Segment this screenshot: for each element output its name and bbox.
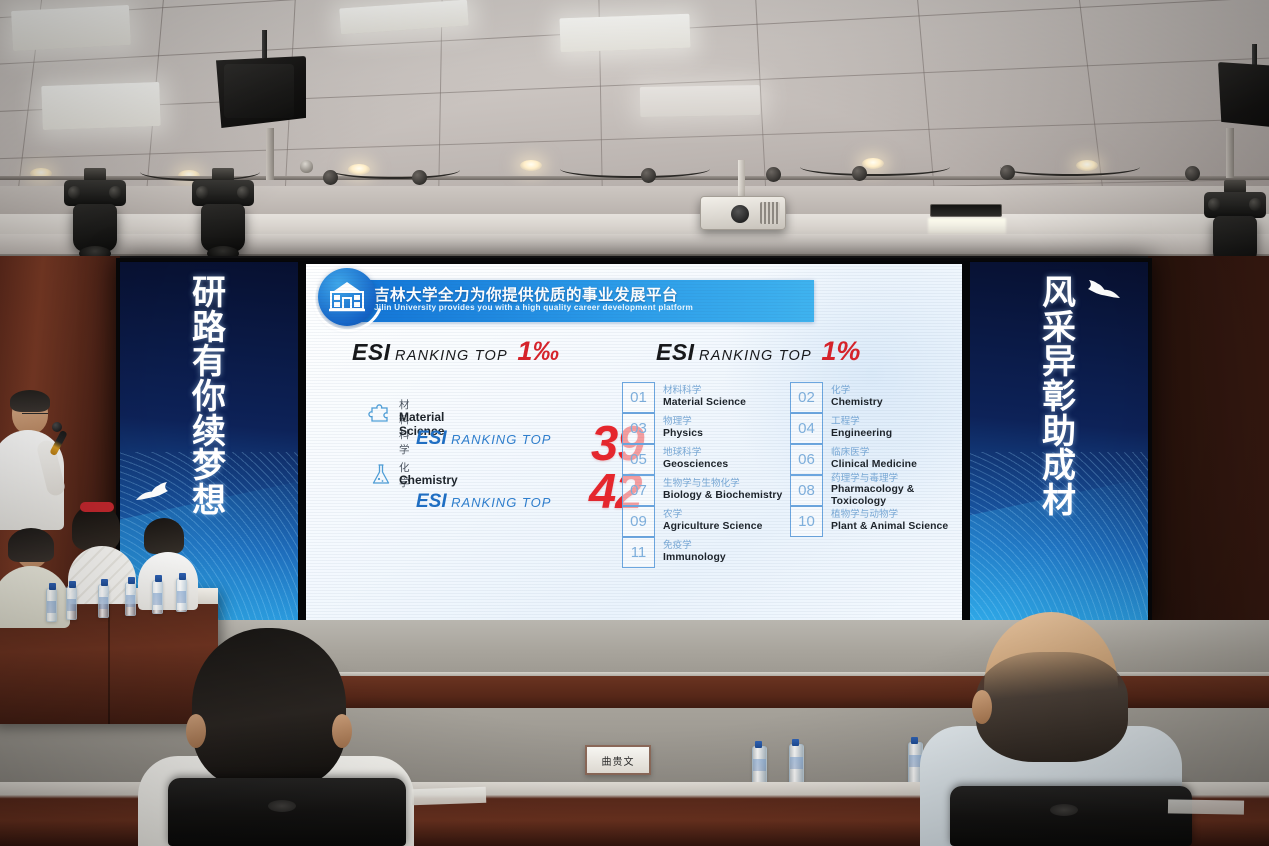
- ear: [186, 714, 206, 748]
- item-number: 10: [790, 506, 823, 537]
- ear: [332, 714, 352, 748]
- ceiling-cable: [330, 161, 460, 179]
- hair: [192, 628, 346, 788]
- item-number: 09: [622, 506, 655, 537]
- calli-char: 梦: [120, 449, 298, 484]
- ceiling-light-panel: [41, 82, 160, 130]
- item-cn: 免疫学: [663, 541, 726, 551]
- water-bottle: [176, 578, 187, 612]
- esi-label: ESI: [416, 428, 447, 449]
- item-cn: 农学: [663, 510, 763, 520]
- esi-label: ESI: [352, 339, 391, 365]
- discipline-rank-label: ESI RANKING TOP: [416, 428, 551, 450]
- ceiling-mount-puck: [852, 166, 867, 181]
- discipline-rank-label: ESI RANKING TOP: [416, 491, 551, 513]
- ear: [972, 690, 992, 724]
- ceiling-mount-puck: [412, 170, 427, 185]
- calli-char: 助: [970, 415, 1148, 450]
- calli-char: 彰: [970, 380, 1148, 415]
- esi-label: ESI: [656, 339, 695, 365]
- item-en: Physics: [663, 428, 703, 440]
- water-bottle: [46, 588, 57, 622]
- banner-right: 风 采 异 彰 助 成 材: [970, 262, 1148, 622]
- calli-char: 研: [120, 276, 298, 311]
- item-cn: 植物学与动物学: [831, 510, 948, 520]
- esi-ranking-label: RANKING TOP: [451, 495, 551, 510]
- item-cn: 化学: [831, 386, 883, 396]
- ceiling-mount-puck: [1185, 166, 1200, 181]
- ceiling-soffit-upper: [0, 186, 1269, 216]
- item-en: Material Science: [663, 397, 746, 409]
- projector-mount-pole: [738, 160, 745, 200]
- ceiling-cable: [800, 158, 950, 176]
- calli-char: 风: [970, 276, 1148, 311]
- water-bottle: [66, 586, 77, 620]
- list-item: 01 材料科学 Material Science: [622, 382, 784, 413]
- led-video-wall: 研 路 有 你 续 梦 想 风 采 异 彰 助 成 材: [116, 258, 1152, 626]
- esi-heading-percent: ESI RANKING TOP 1%: [656, 336, 860, 367]
- item-number: 05: [622, 444, 655, 475]
- item-number: 02: [790, 382, 823, 413]
- ceiling-light-panel: [559, 14, 690, 53]
- flask-icon: [368, 462, 394, 488]
- ceiling-cable: [560, 160, 710, 178]
- calli-char: 采: [970, 311, 1148, 346]
- item-number: 06: [790, 444, 823, 475]
- paper-document: [412, 787, 487, 806]
- list-item: 02 化学 Chemistry: [790, 382, 952, 413]
- ceiling-light-panel: [640, 85, 761, 117]
- slide-title-banner: 吉林大学全力为你提供优质的事业发展平台 Jilin University pro…: [354, 280, 814, 322]
- esi-value: 1%: [821, 336, 860, 366]
- discipline-grid-col-even: 02 化学 Chemistry 04 工程学 Engineering: [790, 382, 952, 537]
- list-item: 08 药理学与毒理学 Pharmacology & Toxicology: [790, 475, 952, 506]
- item-en: Engineering: [831, 428, 892, 440]
- item-en: Immunology: [663, 552, 726, 564]
- banner-left-calligraphy: 研 路 有 你 续 梦 想: [120, 276, 298, 519]
- item-cn: 工程学: [831, 417, 892, 427]
- list-item: 04 工程学 Engineering: [790, 413, 952, 444]
- nameplate-text: 曲贵文: [602, 753, 635, 768]
- item-cn: 物理学: [663, 417, 703, 427]
- item-number: 04: [790, 413, 823, 444]
- calli-char: 想: [120, 484, 298, 519]
- item-cn: 药理学与毒理学: [831, 474, 952, 484]
- paper-document: [1168, 799, 1244, 814]
- item-cn: 生物学与生物化学: [663, 479, 782, 489]
- ceiling-mount-puck: [641, 168, 656, 183]
- calli-char: 你: [120, 380, 298, 415]
- ceiling-downlight: [520, 160, 542, 171]
- auditorium-scene: 研 路 有 你 续 梦 想 风 采 异 彰 助 成 材: [0, 0, 1269, 846]
- calli-char: 路: [120, 311, 298, 346]
- ceiling-mount-puck: [1000, 165, 1015, 180]
- item-en: Agriculture Science: [663, 521, 763, 533]
- calli-char: 成: [970, 449, 1148, 484]
- presentation-slide: 吉林大学全力为你提供优质的事业发展平台 Jilin University pro…: [306, 264, 962, 620]
- ceiling-mount-puck: [323, 170, 338, 185]
- item-en: Clinical Medicine: [831, 459, 917, 471]
- slide-title-cn: 吉林大学全力为你提供优质的事业发展平台: [374, 283, 678, 305]
- item-cn: 材料科学: [663, 386, 746, 396]
- wall-panel-right: [1148, 256, 1269, 656]
- list-item: 05 地球科学 Geosciences: [622, 444, 784, 475]
- item-cn: 地球科学: [663, 448, 728, 458]
- ceiling-cable: [1000, 158, 1140, 176]
- calli-char: 异: [970, 345, 1148, 380]
- hair: [976, 652, 1128, 762]
- ceiling-cable: [140, 163, 260, 181]
- item-en: Geosciences: [663, 459, 728, 471]
- item-en: Biology & Biochemistry: [663, 490, 782, 502]
- stage-light-glow: [928, 218, 1006, 234]
- esi-heading-permille: ESI RANKING TOP 1‰: [352, 336, 559, 367]
- item-en: Chemistry: [831, 397, 883, 409]
- esi-value: 1‰: [517, 336, 559, 366]
- item-number: 01: [622, 382, 655, 413]
- slide-title-en: Jilin University provides you with a hig…: [374, 303, 693, 312]
- ceiling-mount-puck: [766, 167, 781, 182]
- table-nameplate: 曲贵文: [585, 745, 651, 775]
- ceiling-soffit-lower: [0, 234, 1269, 256]
- ceiling-light-panel: [11, 5, 131, 51]
- item-number: 11: [622, 537, 655, 568]
- water-bottle: [98, 584, 109, 618]
- item-number: 03: [622, 413, 655, 444]
- item-cn: 临床医学: [831, 448, 917, 458]
- ceiling-soffit-mid: [0, 214, 1269, 236]
- esi-ranking-label: RANKING TOP: [451, 432, 551, 447]
- item-number: 07: [622, 475, 655, 506]
- puzzle-piece-icon: [368, 399, 394, 425]
- logo-ring-decor: [306, 264, 395, 344]
- chair-back: [950, 786, 1192, 846]
- esi-ranking-label: RANKING TOP: [699, 348, 812, 364]
- item-en: Pharmacology & Toxicology: [831, 484, 952, 508]
- item-en: Plant & Animal Science: [831, 521, 948, 533]
- list-item: 10 植物学与动物学 Plant & Animal Science: [790, 506, 952, 537]
- water-bottle: [125, 582, 136, 616]
- chair-back: [168, 778, 406, 846]
- banner-right-calligraphy: 风 采 异 彰 助 成 材: [970, 276, 1148, 519]
- list-item: 11 免疫学 Immunology: [622, 537, 784, 568]
- glasses-icon: [22, 408, 48, 414]
- list-item: 06 临床医学 Clinical Medicine: [790, 444, 952, 475]
- list-item: 03 物理学 Physics: [622, 413, 784, 444]
- discipline-en: Chemistry: [399, 473, 458, 487]
- esi-label: ESI: [416, 491, 447, 512]
- stage-light-fixture: [930, 204, 1002, 217]
- list-item: 07 生物学与生物化学 Biology & Biochemistry: [622, 475, 784, 506]
- esi-ranking-label: RANKING TOP: [395, 348, 508, 364]
- item-number: 08: [790, 475, 823, 506]
- ceiling-projector: [700, 196, 786, 230]
- water-bottle: [152, 580, 163, 614]
- calli-char: 有: [120, 345, 298, 380]
- calli-char: 续: [120, 415, 298, 450]
- calli-char: 材: [970, 484, 1148, 519]
- discipline-grid-col-odd: 01 材料科学 Material Science 03 物理学 Physics: [622, 382, 784, 568]
- dome-camera-icon: [300, 160, 313, 173]
- list-item: 09 农学 Agriculture Science: [622, 506, 784, 537]
